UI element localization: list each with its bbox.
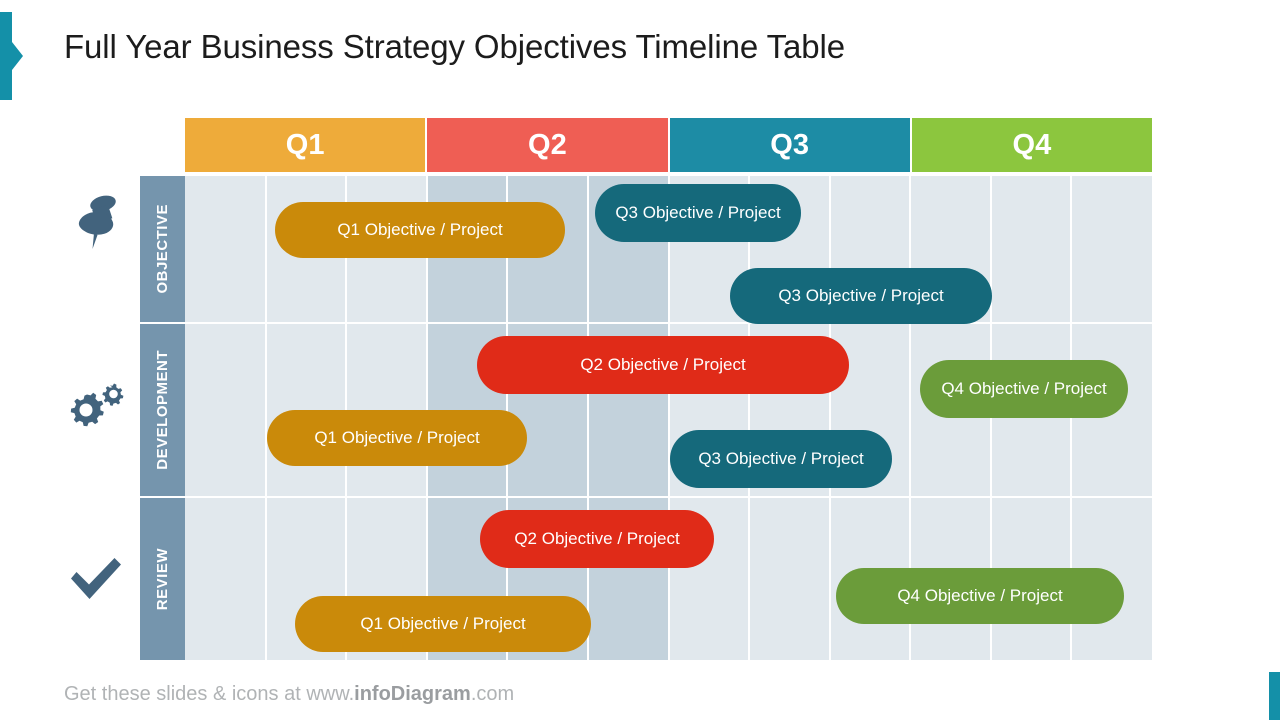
- timeline-bar-label: Q1 Objective / Project: [314, 428, 479, 448]
- quarter-header-q4[interactable]: Q4: [912, 118, 1152, 172]
- left-accent-chevron-icon: [12, 42, 23, 70]
- row-label-objective: OBJECTIVE: [140, 176, 185, 322]
- timeline-bar[interactable]: Q2 Objective / Project: [480, 510, 714, 568]
- bottom-right-accent-bar: [1269, 672, 1280, 720]
- timeline-bar[interactable]: Q3 Objective / Project: [670, 430, 892, 488]
- quarter-header-label: Q1: [286, 129, 325, 162]
- quarter-header-q3[interactable]: Q3: [670, 118, 910, 172]
- row-label-review-text: REVIEW: [154, 548, 171, 610]
- timeline-bar-label: Q1 Objective / Project: [337, 220, 502, 240]
- quarter-header-label: Q4: [1013, 129, 1052, 162]
- gears-icon: [62, 375, 130, 443]
- timeline-bar[interactable]: Q1 Objective / Project: [267, 410, 527, 466]
- grid-column-separator: [587, 176, 589, 660]
- footer-brand: infoDiagram: [354, 683, 471, 705]
- row-label-development-text: DEVELOPMENT: [154, 350, 171, 470]
- timeline-bar-label: Q3 Objective / Project: [698, 449, 863, 469]
- timeline-bar-label: Q2 Objective / Project: [514, 529, 679, 549]
- timeline-bar-label: Q1 Objective / Project: [360, 614, 525, 634]
- timeline-grid-area: Q1 Objective / ProjectQ3 Objective / Pro…: [185, 176, 1152, 660]
- footer-credit: Get these slides & icons at www.infoDiag…: [64, 683, 514, 706]
- timeline-grid: OBJECTIVE DEVELOPMENT REVIEW Q1 Objectiv…: [140, 176, 1152, 660]
- quarter-header-q2[interactable]: Q2: [427, 118, 667, 172]
- timeline-bar[interactable]: Q1 Objective / Project: [275, 202, 565, 258]
- left-accent-bar: [0, 12, 12, 100]
- grid-row-separator: [185, 322, 1152, 324]
- timeline-bar[interactable]: Q1 Objective / Project: [295, 596, 591, 652]
- grid-column-separator: [265, 176, 267, 660]
- timeline-bar[interactable]: Q2 Objective / Project: [477, 336, 849, 394]
- row-label-column: OBJECTIVE DEVELOPMENT REVIEW: [140, 176, 185, 660]
- timeline-bar-label: Q3 Objective / Project: [615, 203, 780, 223]
- pushpin-icon: [62, 190, 130, 258]
- row-label-objective-text: OBJECTIVE: [154, 204, 171, 294]
- timeline-bar[interactable]: Q3 Objective / Project: [595, 184, 801, 242]
- grid-row-separator: [185, 496, 1152, 498]
- check-icon: [62, 545, 130, 613]
- page-title: Full Year Business Strategy Objectives T…: [64, 28, 845, 66]
- row-label-development: DEVELOPMENT: [140, 324, 185, 496]
- grid-column-separator: [748, 176, 750, 660]
- quarter-header-row: Q1Q2Q3Q4: [185, 118, 1152, 172]
- quarter-header-label: Q3: [770, 129, 809, 162]
- quarter-header-q1[interactable]: Q1: [185, 118, 425, 172]
- timeline-bar-label: Q4 Objective / Project: [897, 586, 1062, 606]
- footer-prefix: Get these slides & icons at www.: [64, 683, 354, 705]
- timeline-bar[interactable]: Q4 Objective / Project: [920, 360, 1128, 418]
- timeline-bar[interactable]: Q4 Objective / Project: [836, 568, 1124, 624]
- timeline-bar-label: Q3 Objective / Project: [778, 286, 943, 306]
- row-label-review: REVIEW: [140, 498, 185, 660]
- footer-suffix: .com: [471, 683, 514, 705]
- quarter-header-label: Q2: [528, 129, 567, 162]
- timeline-bar-label: Q4 Objective / Project: [941, 379, 1106, 399]
- grid-column-separator: [829, 176, 831, 660]
- timeline-bar[interactable]: Q3 Objective / Project: [730, 268, 992, 324]
- timeline-bar-label: Q2 Objective / Project: [580, 355, 745, 375]
- grid-column-separator: [668, 176, 670, 660]
